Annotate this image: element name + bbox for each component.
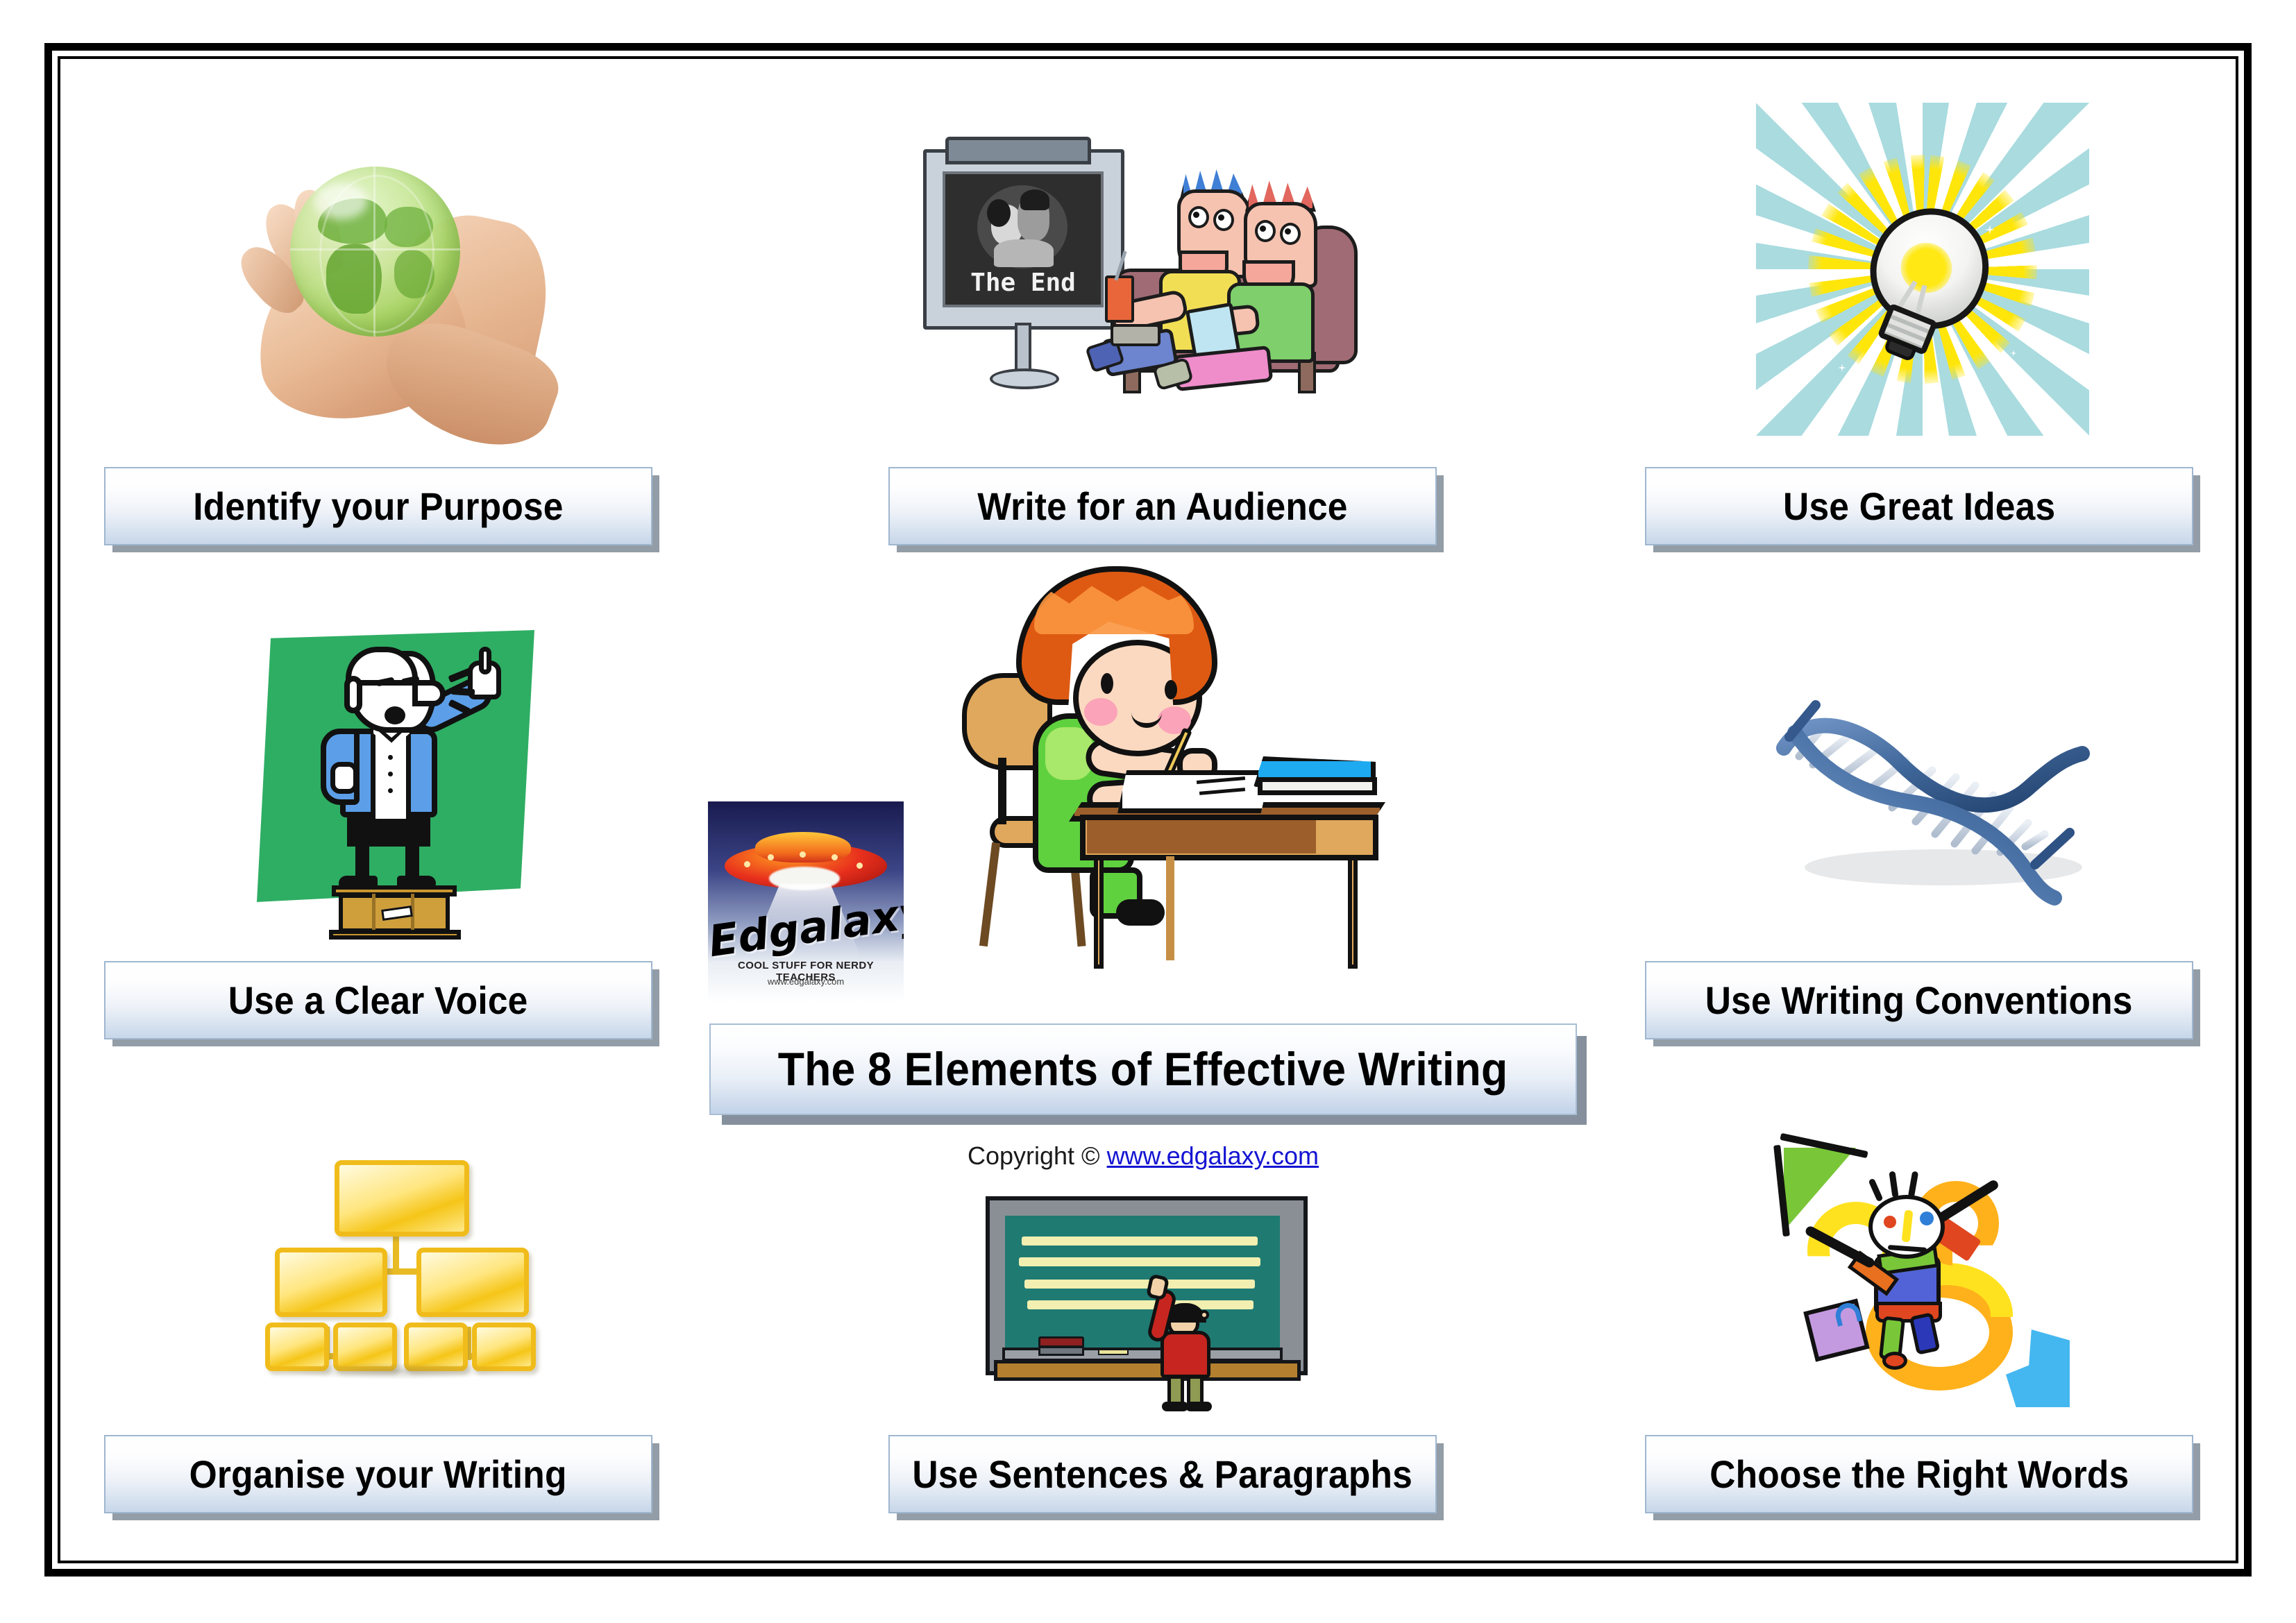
chalkboard-line-1 — [1022, 1237, 1258, 1246]
poster-title-banner: The 8 Elements of Effective Writing — [709, 1023, 1577, 1115]
tv-screen-text: The End — [945, 269, 1101, 297]
edgalaxy-logo: Edgalaxy COOL STUFF FOR NERDY TEACHERS w… — [708, 801, 904, 1003]
speaker-on-soapbox-cartoon — [243, 618, 555, 930]
element-label-choose-the-right-words[interactable]: Choose the Right Words — [1645, 1435, 2193, 1513]
element-label-text: Use Writing Conventions — [1705, 978, 2133, 1023]
copyright-prefix: Copyright © — [968, 1141, 1107, 1170]
glowing-lightbulb-sunburst — [1756, 103, 2089, 436]
element-label-text: Use Great Ideas — [1783, 484, 2055, 529]
dna-double-helix — [1756, 659, 2117, 909]
element-label-text: Choose the Right Words — [1710, 1452, 2129, 1497]
element-label-use-a-clear-voice[interactable]: Use a Clear Voice — [104, 961, 652, 1039]
two-people-watching-tv-cartoon: The End — [902, 121, 1388, 434]
copyright-link[interactable]: www.edgalaxy.com — [1107, 1141, 1319, 1170]
element-label-use-sentences-and-paragraphs[interactable]: Use Sentences & Paragraphs — [888, 1435, 1437, 1513]
chalkboard-line-2 — [1019, 1257, 1260, 1266]
element-label-organise-your-writing[interactable]: Organise your Writing — [104, 1435, 652, 1513]
boy-writing-lines-on-chalkboard — [979, 1187, 1326, 1416]
poster-canvas: The End — [0, 0, 2296, 1623]
element-label-text: Write for an Audience — [977, 484, 1347, 529]
edgalaxy-logo-url: www.edgalaxy.com — [708, 976, 904, 987]
dna-svg — [1756, 659, 2117, 909]
organisation-chart-gold-boxes — [257, 1145, 534, 1381]
hands-holding-green-globe-photo — [208, 83, 555, 430]
girl-writing-at-desk-cartoon — [958, 562, 1416, 978]
element-label-use-writing-conventions[interactable]: Use Writing Conventions — [1645, 961, 2193, 1039]
element-label-identify-your-purpose[interactable]: Identify your Purpose — [104, 467, 652, 545]
element-label-use-great-ideas[interactable]: Use Great Ideas — [1645, 467, 2193, 545]
element-label-text: Organise your Writing — [189, 1452, 567, 1497]
copyright-line: Copyright © www.edgalaxy.com — [709, 1141, 1577, 1171]
abstract-colourful-letter-figure — [1777, 1138, 2096, 1409]
chalkboard-line-4 — [1027, 1300, 1253, 1309]
element-label-text: Use a Clear Voice — [228, 978, 528, 1023]
element-label-text: Use Sentences & Paragraphs — [913, 1452, 1413, 1497]
chalkboard-line-3 — [1024, 1280, 1255, 1289]
element-label-write-for-an-audience[interactable]: Write for an Audience — [888, 467, 1437, 545]
element-label-text: Identify your Purpose — [193, 484, 563, 529]
poster-title-text: The 8 Elements of Effective Writing — [778, 1042, 1508, 1096]
